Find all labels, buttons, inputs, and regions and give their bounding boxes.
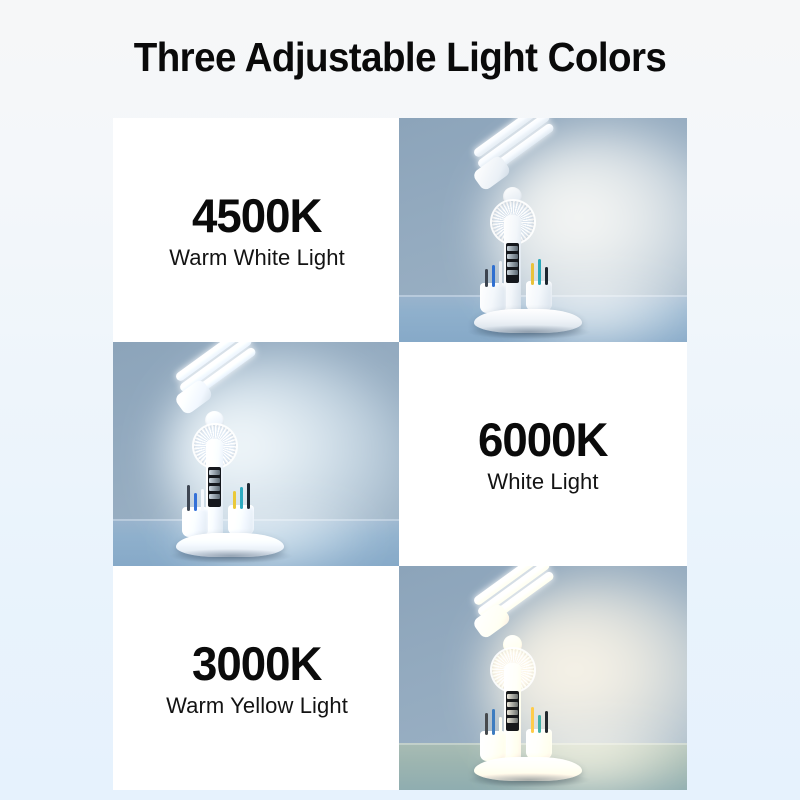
- photo-cell-3000k: [399, 566, 687, 790]
- light-color-row: 4500K Warm White Light: [0, 118, 800, 342]
- lcd-display: [506, 691, 519, 731]
- lcd-display: [506, 243, 519, 283]
- pen: [194, 493, 197, 511]
- pen: [499, 261, 502, 287]
- lcd-segment: [507, 246, 518, 251]
- pen: [538, 715, 541, 733]
- pen: [187, 485, 190, 511]
- pen: [538, 259, 541, 285]
- lcd-segment: [507, 254, 518, 259]
- pen: [201, 489, 204, 511]
- pen: [485, 713, 488, 735]
- lcd-segment: [507, 270, 518, 275]
- light-color-panel-grid: 4500K Warm White Light: [0, 0, 800, 800]
- pen: [492, 265, 495, 287]
- kelvin-value: 3000K: [192, 640, 321, 687]
- kelvin-value: 4500K: [192, 192, 321, 239]
- pen: [492, 709, 495, 735]
- photo-cell-6000k: [113, 342, 401, 566]
- spec-card-6000k: 6000K White Light: [399, 342, 687, 566]
- pen-holder-right: [526, 281, 552, 311]
- lamp-shadow: [468, 773, 590, 787]
- pen: [240, 487, 243, 509]
- lcd-segment: [507, 710, 518, 715]
- light-color-row: 3000K Warm Yellow Light: [0, 566, 800, 790]
- product-photo-warm-yellow: [399, 566, 687, 790]
- product-photo-warm-white: [399, 118, 687, 342]
- desk-lamp-product: [176, 367, 296, 557]
- lcd-segment: [209, 494, 220, 499]
- lcd-segment: [507, 718, 518, 723]
- pen: [499, 717, 502, 735]
- pen-holder-right: [526, 729, 552, 759]
- desk-lamp-product: [474, 143, 594, 333]
- pen-holder-right: [228, 505, 254, 535]
- light-type-label: Warm Yellow Light: [166, 695, 348, 717]
- pen: [531, 263, 534, 285]
- pen-holder-left: [182, 507, 208, 537]
- spec-card-4500k: 4500K Warm White Light: [113, 118, 401, 342]
- lcd-segment: [507, 702, 518, 707]
- light-color-row: 6000K White Light: [0, 342, 800, 566]
- lcd-display: [208, 467, 221, 507]
- lcd-segment: [209, 486, 220, 491]
- pen: [545, 711, 548, 733]
- lcd-segment: [209, 470, 220, 475]
- text-cell-3000k: 3000K Warm Yellow Light: [113, 566, 401, 790]
- lamp-shadow: [170, 549, 292, 563]
- light-type-label: White Light: [487, 471, 598, 493]
- lcd-segment: [507, 694, 518, 699]
- text-cell-4500k: 4500K Warm White Light: [113, 118, 401, 342]
- photo-cell-4500k: [399, 118, 687, 342]
- lamp-shadow: [468, 325, 590, 339]
- pen-holder-left: [480, 283, 506, 313]
- pen: [485, 269, 488, 287]
- kelvin-value: 6000K: [478, 416, 607, 463]
- text-cell-6000k: 6000K White Light: [399, 342, 687, 566]
- light-type-label: Warm White Light: [169, 247, 345, 269]
- lcd-segment: [507, 262, 518, 267]
- product-photo-cool-white: [113, 342, 401, 566]
- pen: [233, 491, 236, 509]
- pen: [545, 267, 548, 285]
- pen: [531, 707, 534, 733]
- pen: [247, 483, 250, 509]
- pen-holder-left: [480, 731, 506, 761]
- spec-card-3000k: 3000K Warm Yellow Light: [113, 566, 401, 790]
- desk-lamp-product: [474, 591, 594, 781]
- lcd-segment: [209, 478, 220, 483]
